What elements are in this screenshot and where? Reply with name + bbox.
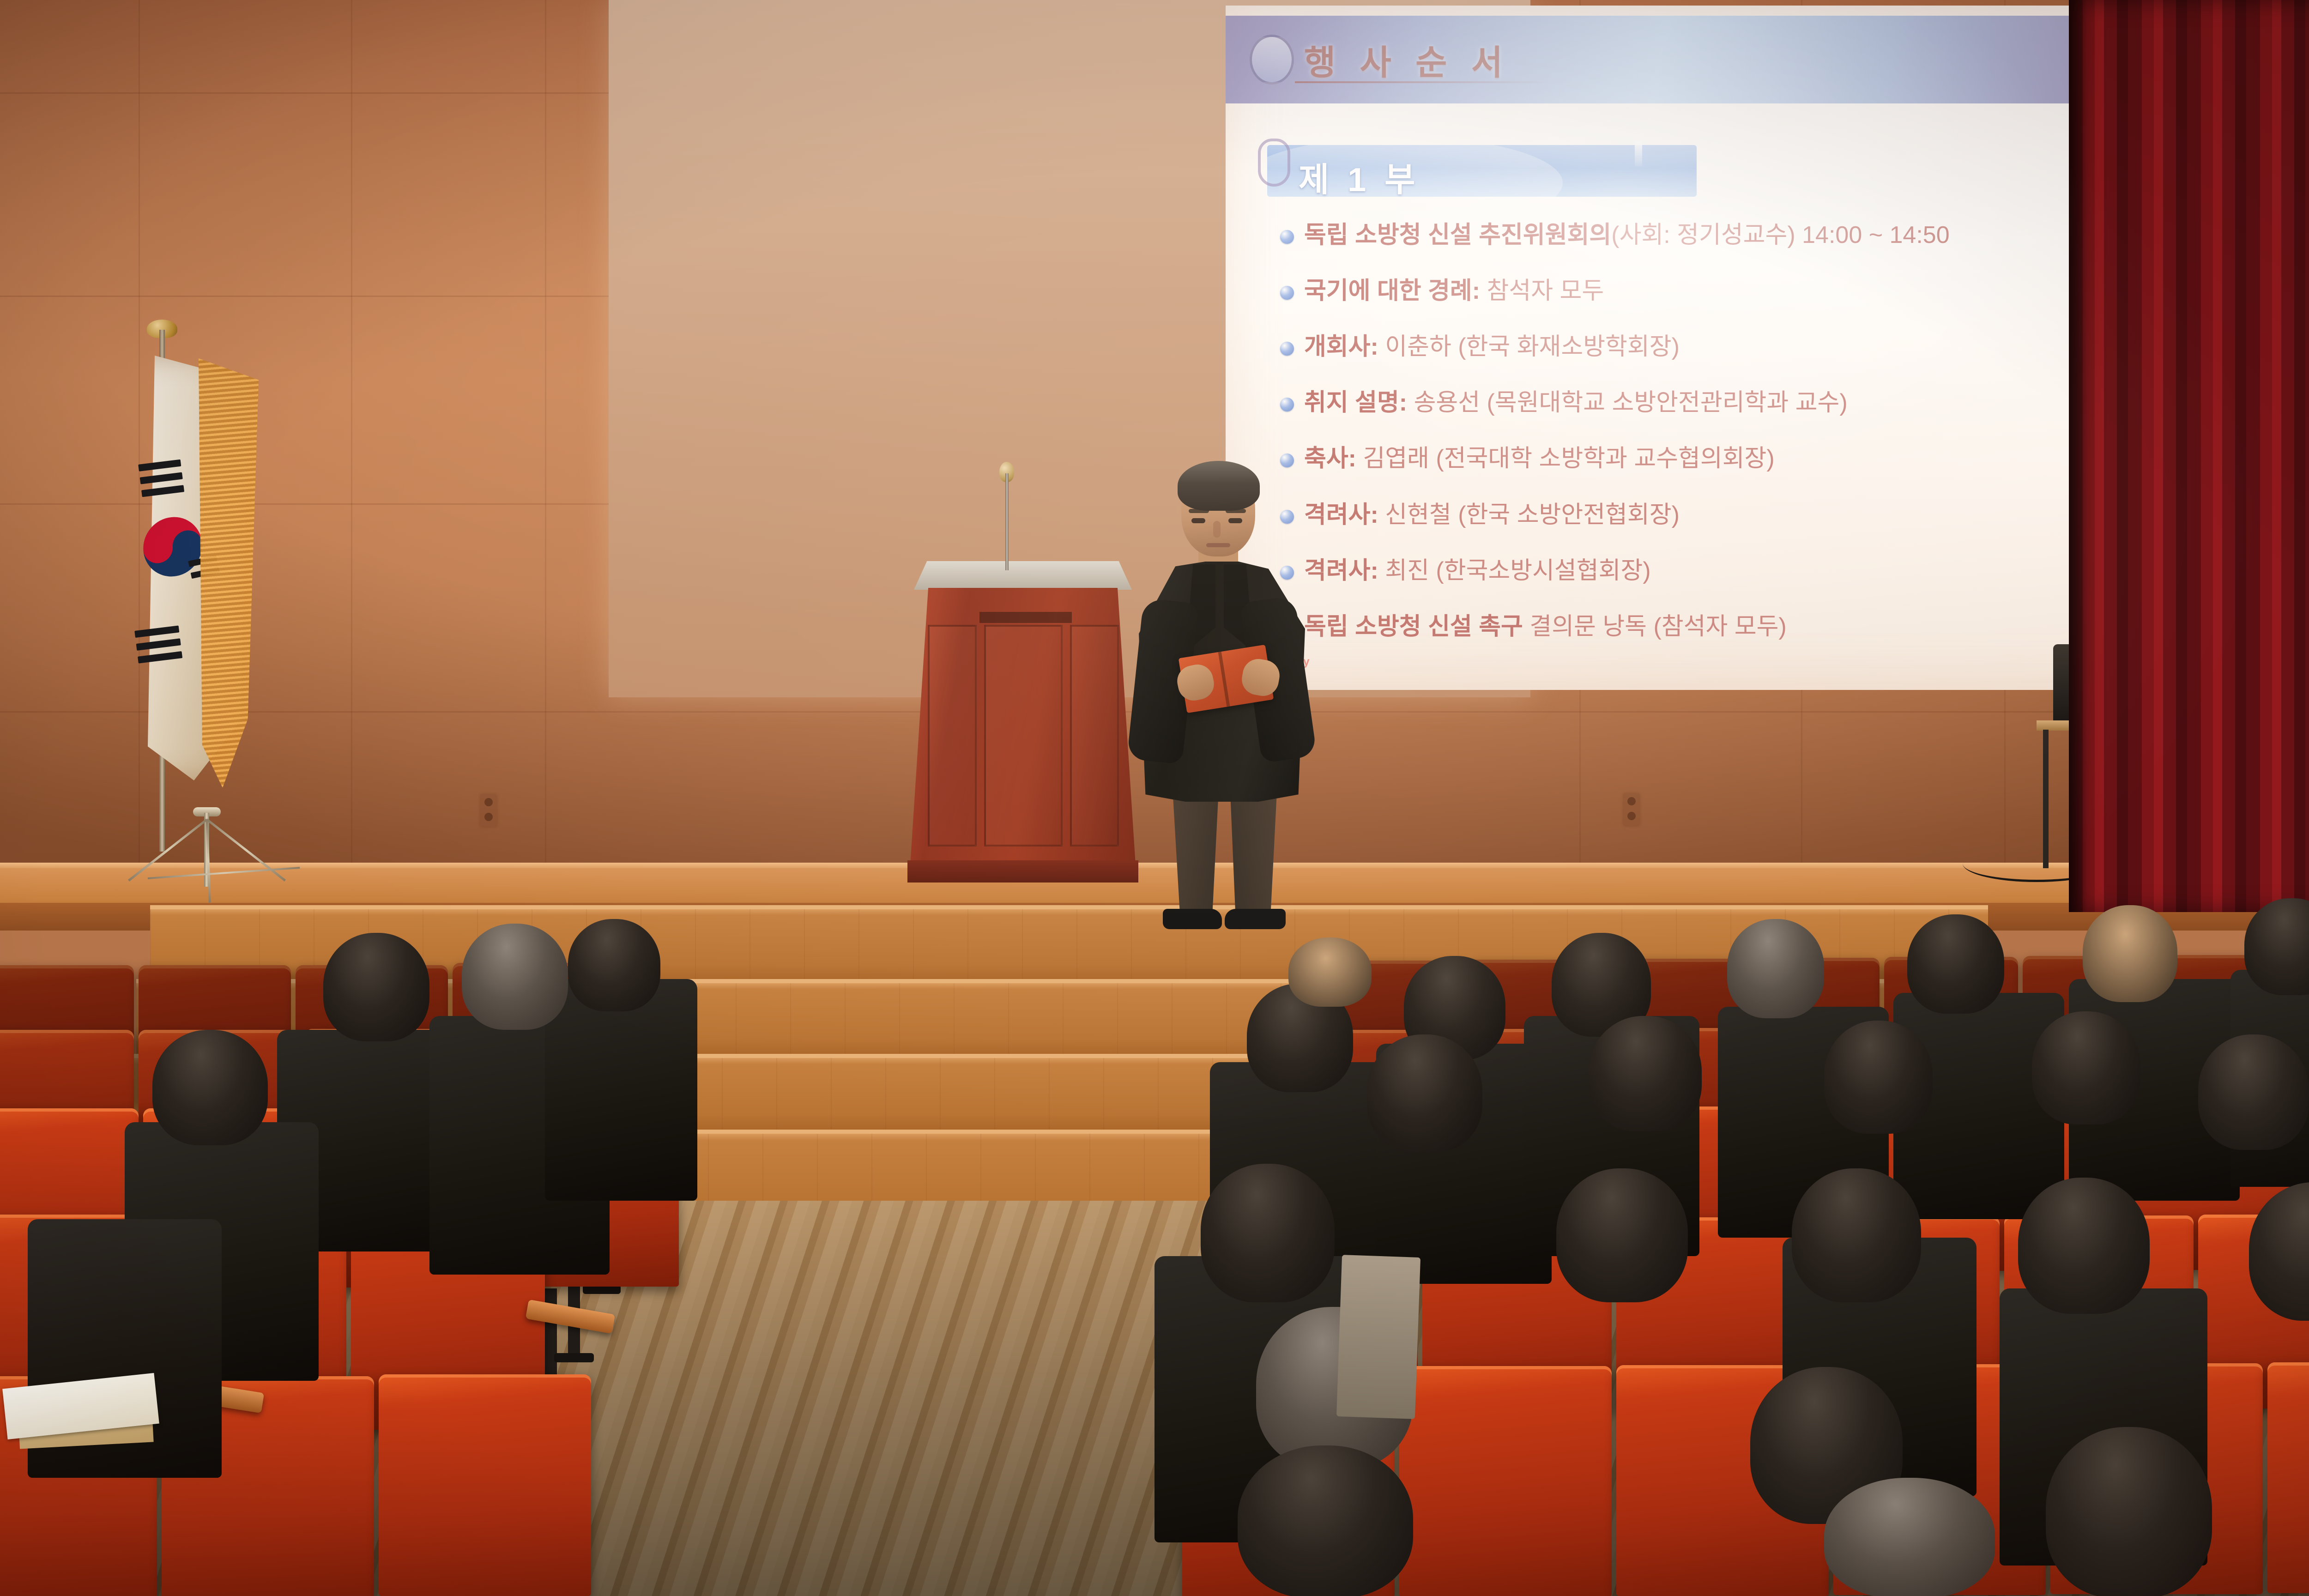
bullet-dot-icon	[1280, 398, 1294, 411]
audience-head	[1907, 914, 2004, 1014]
list-item: 격려사: 신현철 (한국 소방안전협회장)	[1280, 502, 2111, 528]
audience-head	[1589, 1016, 1702, 1131]
bullet-strong: 독립 소방청 신설 추진위원회의	[1304, 222, 1611, 248]
audience-head	[1201, 1164, 1335, 1302]
podium-panel	[1070, 625, 1119, 846]
header-circle-icon	[1250, 35, 1294, 85]
slide-bullet-list: 독립 소방청 신설 추진위원회의(사회: 정기성교수) 14:00 ~ 14:5…	[1280, 223, 2111, 670]
bullet-strong: 독립 소방청 신설 촉구	[1304, 613, 1523, 640]
audience-head	[1288, 937, 1372, 1007]
podium-panel	[984, 625, 1063, 846]
list-item: 축사: 김엽래 (전국대학 소방학과 교수협의회장)	[1280, 446, 2111, 472]
flag-tripod-stand	[134, 813, 286, 887]
audience-head	[2018, 1178, 2150, 1314]
slide-header-band: 행 사 순 서	[1226, 16, 2132, 103]
speaker-shoe-left	[1163, 909, 1222, 929]
table-leg	[2043, 730, 2049, 868]
microphone-stem	[1005, 473, 1009, 570]
paperclip-icon	[1258, 139, 1290, 187]
header-underline	[1295, 81, 1553, 83]
bullet-normal: 신현철 (한국 소방안전협회장)	[1378, 502, 1680, 528]
list-item: 취지 설명: 송용선 (목원대학교 소방안전관리학과 교수)	[1280, 390, 2111, 416]
list-item: 개회사: 이춘하 (한국 화재소방학회장)	[1280, 334, 2111, 360]
bullet-normal: 이춘하 (한국 화재소방학회장)	[1378, 333, 1680, 360]
audience-head	[462, 924, 568, 1030]
part-label-text: 제 1 부	[1299, 152, 1420, 201]
audience-head	[1824, 1021, 1933, 1134]
wall-outlet-left	[480, 794, 497, 827]
stage-curtain	[2069, 0, 2309, 912]
curtain-shadow-edge	[2069, 0, 2087, 912]
speaker-eye-right	[1228, 518, 1242, 523]
audience-head	[1367, 1034, 1482, 1152]
lectern-podium	[907, 561, 1138, 884]
bullet-strong: 국기에 대한 경례:	[1304, 278, 1480, 304]
audience-head	[2083, 905, 2177, 1002]
korean-flag-assembly	[65, 323, 277, 887]
bullet-normal: 최진 (한국소방시설협회장)	[1378, 557, 1651, 584]
list-item: 독립 소방청 신설 촉구 결의문 낭독 (참석자 모두)	[1280, 614, 2111, 640]
speaker-hair	[1178, 461, 1260, 511]
audience-scarf	[1336, 1255, 1420, 1419]
bullet-normal: 김엽래 (전국대학 소방학과 교수협의회장)	[1356, 445, 1775, 472]
bullet-normal: (사회: 정기성교수) 14:00 ~ 14:50	[1611, 222, 1949, 248]
audience-head	[2032, 1011, 2140, 1124]
audience-head	[568, 919, 660, 1011]
speaker-shoe-right	[1225, 909, 1286, 929]
bullet-normal: 송용선 (목원대학교 소방안전관리학과 교수)	[1407, 389, 1848, 416]
auditorium-scene: 행 사 순 서 제 1 부 독립 소방청 신설 추진위원회의(사회: 정기성교수…	[0, 0, 2309, 1596]
audience-head	[1238, 1445, 1413, 1596]
seat[interactable]	[379, 1374, 591, 1596]
audience-body	[545, 979, 697, 1201]
speaker-nose	[1213, 521, 1221, 538]
tripod-leg	[128, 819, 208, 882]
seat-foot	[554, 1353, 594, 1362]
podium-top-surface	[914, 561, 1132, 590]
part-label-group: 제 1 부	[1258, 139, 1701, 198]
sparkle-accent	[1635, 141, 1642, 166]
list-item: 독립 소방청 신설 추진위원회의(사회: 정기성교수) 14:00 ~ 14:5…	[1280, 223, 2111, 248]
audience-head	[1556, 1168, 1688, 1302]
bullet-dot-icon	[1280, 286, 1294, 300]
wall-outlet-right	[1623, 793, 1640, 826]
bullet-dot-icon	[1280, 230, 1294, 244]
seat[interactable]	[2267, 1362, 2309, 1593]
audience-head	[1792, 1168, 1921, 1302]
slide-header-title: 행 사 순 서	[1304, 35, 1510, 85]
speaker-mouth	[1206, 543, 1230, 547]
audience-head	[1824, 1478, 1995, 1596]
speaker-eye-left	[1191, 518, 1205, 523]
bullet-strong: 취지 설명:	[1304, 389, 1407, 416]
audience-head	[2198, 1034, 2309, 1150]
trigram-bottom-left	[134, 625, 183, 669]
podium-base	[907, 860, 1138, 883]
bullet-strong: 개회사:	[1304, 333, 1378, 360]
bullet-dot-icon	[1280, 342, 1294, 356]
audience-head	[323, 933, 429, 1041]
projected-slide: 행 사 순 서 제 1 부 독립 소방청 신설 추진위원회의(사회: 정기성교수…	[1226, 6, 2132, 690]
trigram-top-left	[138, 459, 185, 503]
bullet-normal: 결의문 낭독 (참석자 모두)	[1523, 613, 1787, 640]
seat[interactable]	[1399, 1366, 1612, 1596]
speaker-person	[1127, 466, 1321, 891]
bullet-normal: 참석자 모두	[1480, 278, 1604, 304]
flag-gold-fringe	[199, 358, 259, 788]
bullet-dot-icon	[1280, 453, 1294, 467]
audience-head	[1727, 919, 1824, 1018]
podium-body	[910, 588, 1136, 865]
audience-head	[152, 1030, 268, 1145]
podium-front-slot	[979, 612, 1072, 623]
audience-head	[2046, 1427, 2212, 1596]
list-item: 국기에 대한 경례: 참석자 모두	[1280, 278, 2111, 304]
list-item: 격려사: 최진 (한국소방시설협회장)	[1280, 558, 2111, 584]
podium-panel	[928, 625, 977, 846]
